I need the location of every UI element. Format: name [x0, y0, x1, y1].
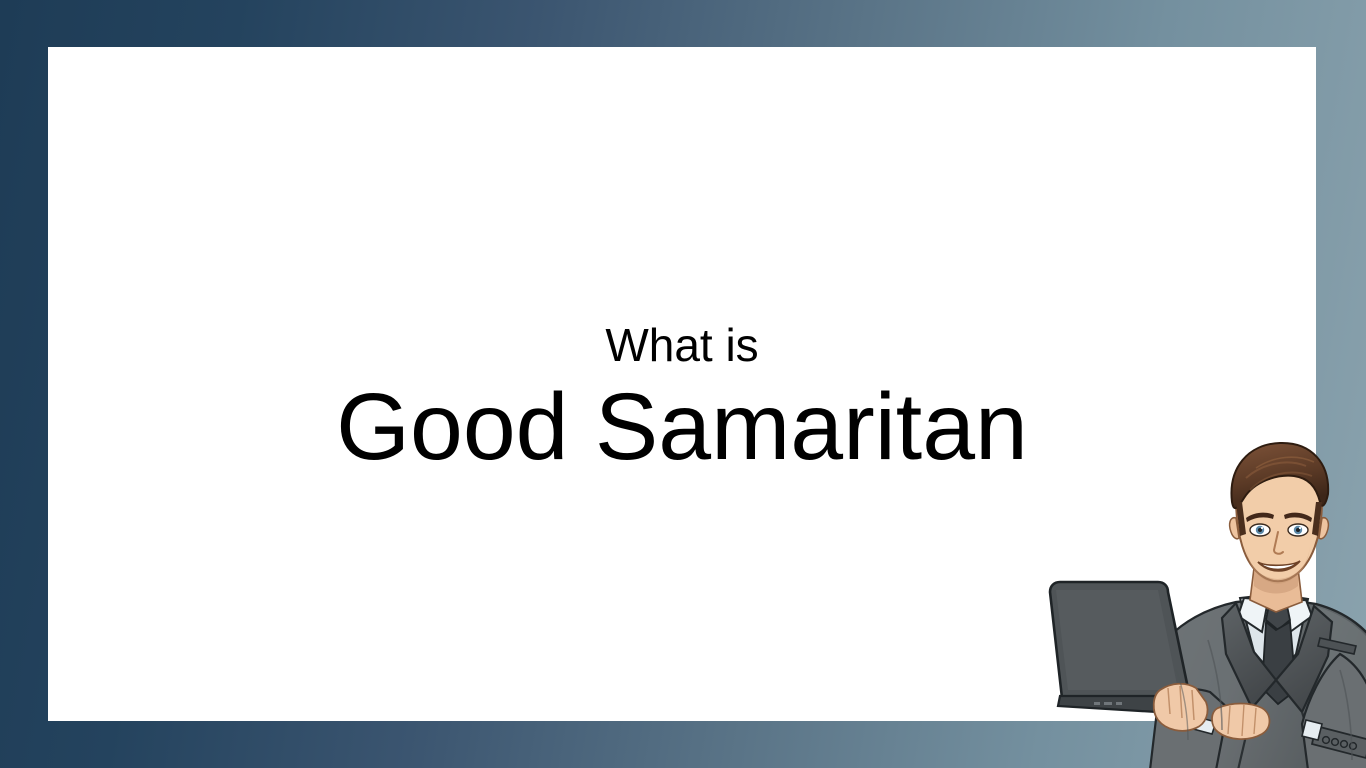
slide-subtitle: What is	[48, 319, 1316, 371]
presentation-slide: What is Good Samaritan	[0, 0, 1366, 768]
businessman-illustration	[1040, 440, 1366, 768]
